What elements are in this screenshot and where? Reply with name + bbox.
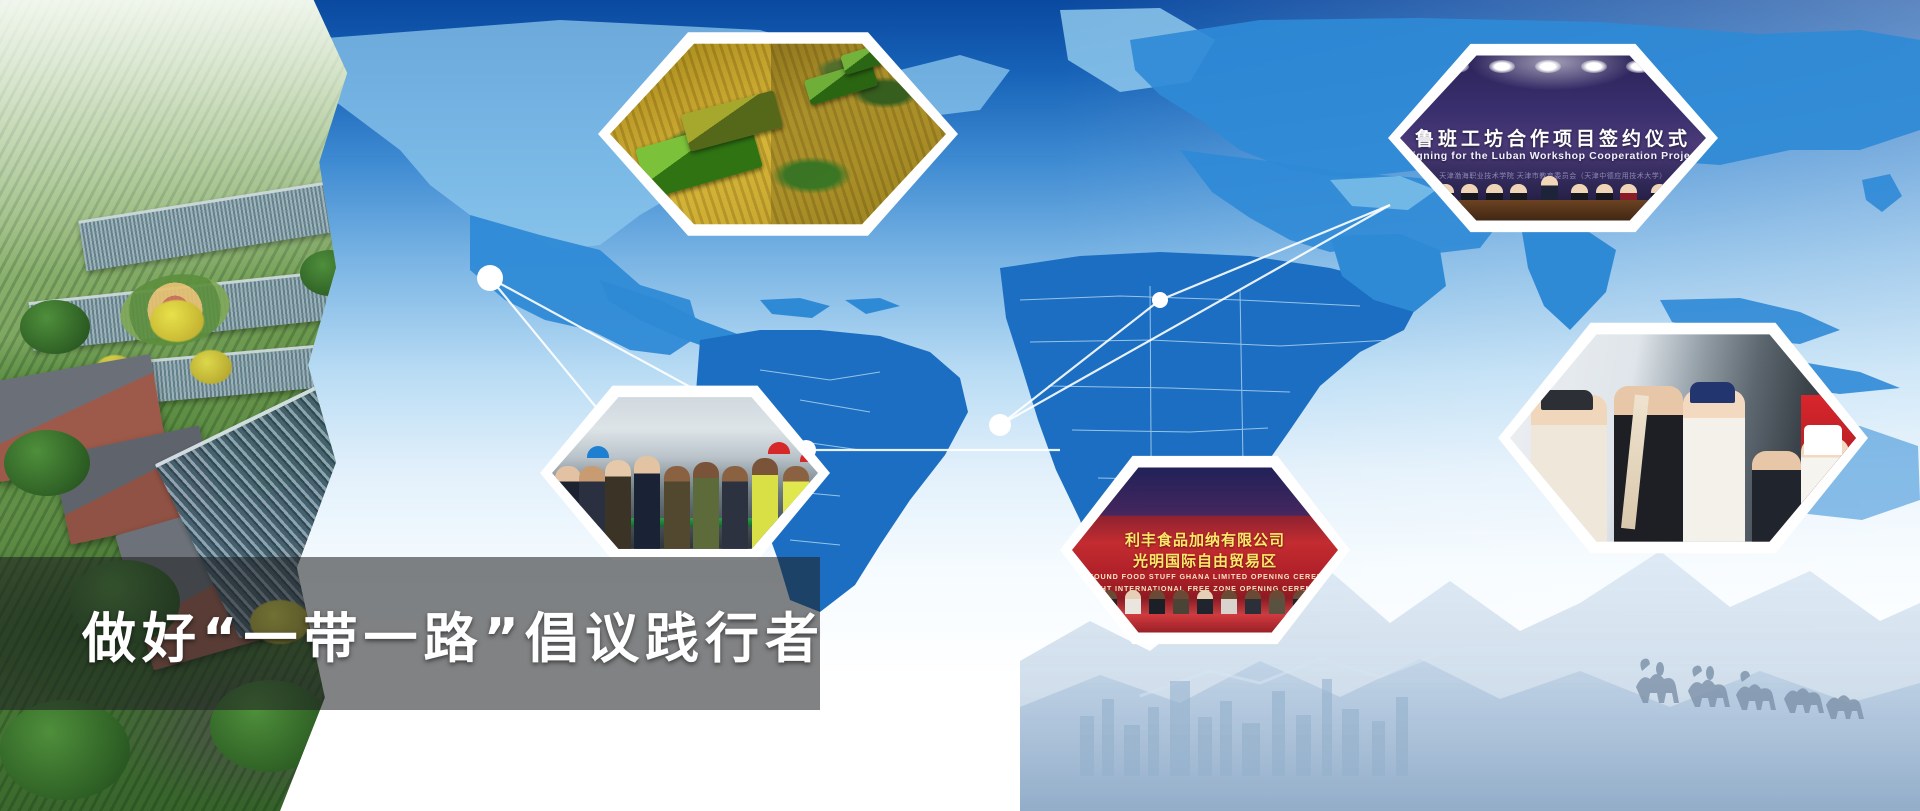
banner-stage: 鲁班工坊合作项目签约仪式 Signing for the Luban Works…: [0, 0, 1920, 811]
hexagon-photo-clip: [1510, 330, 1856, 546]
chef-student: [1683, 390, 1745, 546]
hexagon-photo-clip: [610, 40, 946, 228]
photo-site-visit: [552, 394, 818, 552]
photo-luban-signing: 鲁班工坊合作项目签约仪式 Signing for the Luban Works…: [1400, 52, 1706, 224]
ghana-banner-line2: 光明国际自由贸易区: [1072, 550, 1338, 571]
headline-banner: 做好“一带一路”倡议践行者: [0, 557, 820, 710]
chef-toque-icon: [1804, 425, 1842, 455]
ghana-banner-english1: LEEFOUND FOOD STUFF GHANA LIMITED OPENIN…: [1072, 572, 1338, 581]
tree: [4, 430, 90, 496]
flowering-tree: [190, 350, 232, 384]
ghana-banner-line1: 利丰食品加纳有限公司: [1072, 529, 1338, 550]
chef-hat-icon: [1541, 390, 1593, 409]
photo-ghana-ceremony: 利丰食品加纳有限公司 光明国际自由贸易区 LEEFOUND FOOD STUFF…: [1072, 464, 1338, 636]
hexagon-photo-clip: 鲁班工坊合作项目签约仪式 Signing for the Luban Works…: [1400, 52, 1706, 224]
page-title: 做好“一带一路”倡议践行者: [82, 594, 825, 673]
flowering-tree: [150, 300, 204, 342]
tree: [20, 300, 90, 354]
photo-culinary-training: [1510, 330, 1856, 546]
chef-hat-icon: [1690, 382, 1735, 404]
hexagon-photo-clip: 利丰食品加纳有限公司 光明国际自由贸易区 LEEFOUND FOOD STUFF…: [1072, 464, 1338, 636]
tree: [0, 700, 130, 800]
hexagon-photo-clip: [552, 394, 818, 552]
signing-table: [1424, 200, 1681, 224]
photo-wheat-harvest: [610, 40, 946, 228]
luban-banner-chinese: 鲁班工坊合作项目签约仪式: [1400, 124, 1706, 151]
